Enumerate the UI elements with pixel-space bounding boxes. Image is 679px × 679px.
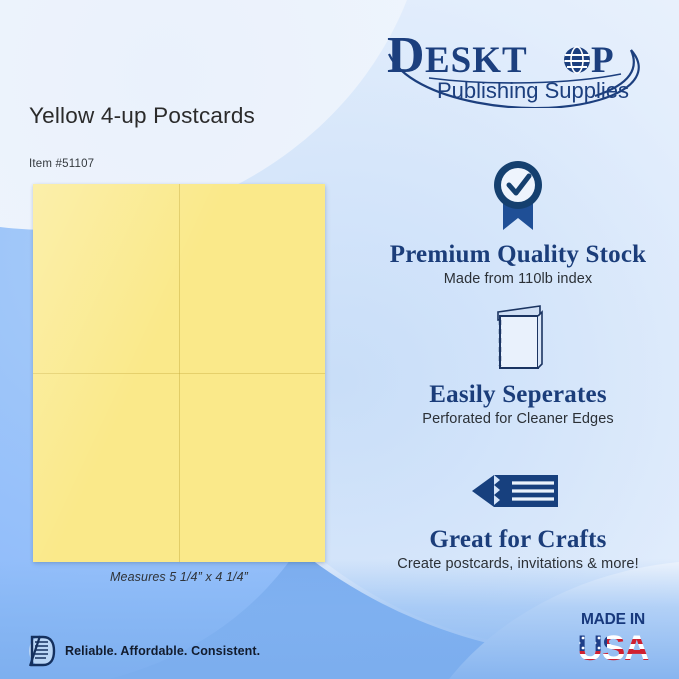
perforation-line-horizontal — [33, 373, 325, 374]
tagline-text: Reliable. Affordable. Consistent. — [65, 644, 260, 658]
brand-tagline: Reliable. Affordable. Consistent. — [26, 634, 260, 668]
svg-text:ESKT: ESKT — [425, 40, 528, 81]
made-in-label: MADE IN — [565, 612, 661, 628]
usa-flag-wordmark: USA — [565, 629, 661, 667]
svg-text:D: D — [387, 27, 425, 84]
page-title: Yellow 4-up Postcards — [29, 103, 255, 129]
feature-premium-quality: Premium Quality Stock Made from 110lb in… — [368, 158, 668, 287]
item-number: Item #51107 — [29, 158, 94, 170]
brand-logo: D ESKT P Publishing Supplies — [381, 24, 649, 108]
feature-subtitle: Create postcards, invitations & more! — [368, 556, 668, 572]
award-ribbon-icon — [368, 158, 668, 234]
made-in-usa-badge: MADE IN USA — [565, 612, 661, 667]
measurement-caption: Measures 5 1/4” x 4 1/4” — [33, 570, 325, 584]
feature-subtitle: Made from 110lb index — [368, 271, 668, 287]
feature-title: Easily Seperates — [368, 382, 668, 408]
pencil-icon — [368, 443, 668, 519]
postcard-sheet-preview — [33, 184, 325, 562]
svg-text:Publishing Supplies: Publishing Supplies — [437, 78, 629, 103]
svg-text:P: P — [591, 40, 614, 81]
document-monogram-icon — [26, 634, 56, 668]
feature-title: Premium Quality Stock — [368, 242, 668, 268]
feature-title: Great for Crafts — [368, 527, 668, 553]
feature-easily-separates: Easily Seperates Perforated for Cleaner … — [368, 298, 668, 427]
product-infographic: D ESKT P Publishing Supplies Yellow 4-up… — [0, 0, 679, 679]
feature-great-for-crafts: Great for Crafts Create postcards, invit… — [368, 443, 668, 572]
feature-subtitle: Perforated for Cleaner Edges — [368, 411, 668, 427]
perforated-card-icon — [368, 298, 668, 374]
